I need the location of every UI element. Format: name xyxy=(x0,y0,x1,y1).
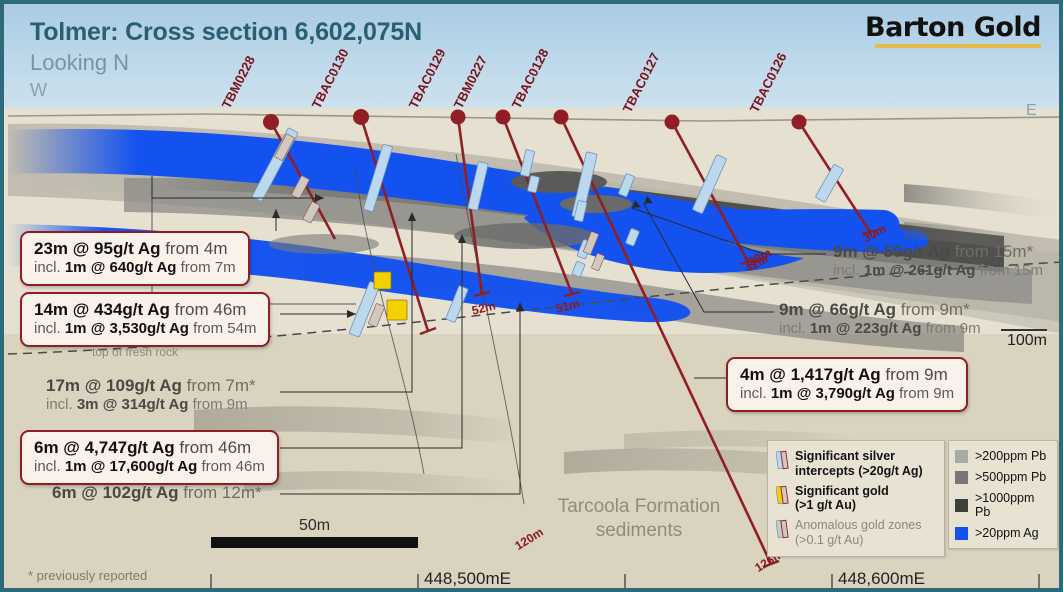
view-direction-label: Looking N xyxy=(30,50,129,76)
callout-incl-prefix: incl. xyxy=(46,396,77,413)
silver-intercept-icon xyxy=(776,450,789,470)
legend-item-silver-intercept-icon: Significant silverintercepts (>20g/t Ag) xyxy=(776,449,936,479)
callout-interval-bold: 6m @ 102g/t Ag xyxy=(52,483,178,502)
legend-symbols: Significant silverintercepts (>20g/t Ag)… xyxy=(767,440,945,557)
callout-incl-prefix: incl. xyxy=(34,458,65,475)
intercept-callout-c3: 17m @ 109g/t Ag from 7m*incl. 3m @ 314g/… xyxy=(46,376,256,414)
color-swatch xyxy=(955,471,968,484)
deep-lens-3 xyxy=(244,471,514,500)
intercept-callout-c5: 6m @ 102g/t Ag from 12m* xyxy=(52,483,262,503)
legend-geochem-item: >500ppm Pb xyxy=(955,470,1051,484)
callout-line-primary: 9m @ 66g/t Ag from 9m* xyxy=(779,300,981,320)
callout-line-incl: incl. 1m @ 3,790g/t Ag from 9m xyxy=(740,385,954,403)
tarcoola-formation-label: Tarcoola Formation sediments xyxy=(539,495,739,543)
callout-from-depth: from 46m xyxy=(175,438,252,457)
callout-interval-bold: 4m @ 1,417g/t Ag xyxy=(740,365,881,384)
footnote: * previously reported xyxy=(28,568,147,583)
callout-interval-bold: 6m @ 4,747g/t Ag xyxy=(34,438,175,457)
callout-incl-from: from 9m xyxy=(921,320,980,337)
legend-geochem-item: >1000ppm Pb xyxy=(955,491,1051,519)
callout-line-primary: 9m @ 59g/t Ag from 15m* xyxy=(833,242,1043,262)
callout-from-depth: from 7m* xyxy=(182,376,256,395)
anomalous-gold-icon xyxy=(776,519,789,539)
topography-surface-line xyxy=(8,114,1063,121)
callout-line-primary: 23m @ 95g/t Ag from 4m xyxy=(34,239,236,259)
callout-line-incl: incl. 1m @ 17,600g/t Ag from 46m xyxy=(34,458,265,476)
legend-item-label: Significant silverintercepts (>20g/t Ag) xyxy=(795,449,923,479)
callout-incl-bold: 1m @ 261g/t Ag xyxy=(864,262,976,279)
depth-rule-100m xyxy=(1001,329,1047,331)
callout-interval-bold: 14m @ 434g/t Ag xyxy=(34,300,170,319)
color-swatch xyxy=(955,450,968,463)
callout-incl-bold: 1m @ 223g/t Ag xyxy=(810,320,922,337)
inner-dark-lens-b xyxy=(560,195,632,213)
legend-label-line1: Significant gold xyxy=(795,484,889,499)
callout-line-incl: incl. 1m @ 261g/t Ag from 15m xyxy=(833,262,1043,280)
legend-item-anomalous-gold-icon: Anomalous gold zones(>0.1 g/t Au) xyxy=(776,518,936,548)
scale-bar xyxy=(211,537,418,548)
inner-dark-lens-d xyxy=(269,234,379,254)
callout-from-depth: from 9m* xyxy=(896,300,970,319)
callout-line-incl: incl. 1m @ 3,530g/t Ag from 54m xyxy=(34,320,256,338)
depth-label-100m: 100m xyxy=(1001,329,1047,350)
easting-label-right: 448,600mE xyxy=(838,569,925,589)
callout-from-depth: from 15m* xyxy=(950,242,1033,261)
callout-incl-prefix: incl. xyxy=(34,320,65,337)
callout-from-depth: from 4m xyxy=(160,239,227,258)
callout-interval-bold: 9m @ 59g/t Ag xyxy=(833,242,950,261)
legend-label-line2: intercepts (>20g/t Ag) xyxy=(795,464,923,479)
west-label: W xyxy=(30,80,47,101)
intercept-callout-c2: 14m @ 434g/t Ag from 46mincl. 1m @ 3,530… xyxy=(20,292,270,347)
legend-geochem-label: >20ppm Ag xyxy=(975,526,1039,540)
callout-line-incl: incl. 1m @ 223g/t Ag from 9m xyxy=(779,320,981,338)
callout-line-primary: 17m @ 109g/t Ag from 7m* xyxy=(46,376,256,396)
page-title: Tolmer: Cross section 6,602,075N xyxy=(30,18,422,47)
depth-100-text: 100m xyxy=(1007,332,1047,349)
easting-label-left: 448,500mE xyxy=(424,569,511,589)
brand-logo: Barton Gold xyxy=(865,14,1041,48)
callout-incl-bold: 3m @ 314g/t Ag xyxy=(77,396,189,413)
legend-label-line2: (>0.1 g/t Au) xyxy=(795,533,921,548)
legend-geochem-item: >200ppm Pb xyxy=(955,449,1051,463)
callout-incl-from: from 46m xyxy=(197,458,265,475)
legend-item-gold-intercept-icon: Significant gold(>1 g/t Au) xyxy=(776,484,936,514)
color-swatch xyxy=(955,499,968,512)
callout-incl-from: from 15m xyxy=(975,262,1043,279)
intercept-callout-c4: 6m @ 4,747g/t Ag from 46mincl. 1m @ 17,6… xyxy=(20,430,279,485)
callout-line-primary: 14m @ 434g/t Ag from 46m xyxy=(34,300,256,320)
cross-section-figure: Tolmer: Cross section 6,602,075N Looking… xyxy=(0,0,1063,592)
callout-incl-prefix: incl. xyxy=(740,385,771,402)
callout-incl-from: from 9m xyxy=(895,385,954,402)
callout-interval-bold: 23m @ 95g/t Ag xyxy=(34,239,160,258)
legend-geochemistry: >200ppm Pb>500ppm Pb>1000ppm Pb>20ppm Ag xyxy=(948,440,1058,549)
callout-line-primary: 4m @ 1,417g/t Ag from 9m xyxy=(740,365,954,385)
callout-incl-from: from 54m xyxy=(189,320,257,337)
brand-name: Barton Gold xyxy=(865,14,1041,41)
legend-geochem-label: >200ppm Pb xyxy=(975,449,1046,463)
color-swatch xyxy=(955,527,968,540)
callout-from-depth: from 12m* xyxy=(178,483,261,502)
legend-geochem-label: >1000ppm Pb xyxy=(975,491,1051,519)
east-label: E xyxy=(1026,102,1037,120)
callout-line-primary: 6m @ 102g/t Ag from 12m* xyxy=(52,483,262,503)
callout-incl-prefix: incl. xyxy=(779,320,810,337)
legend-item-label: Anomalous gold zones(>0.1 g/t Au) xyxy=(795,518,921,548)
callout-incl-prefix: incl. xyxy=(34,259,65,276)
callout-interval-bold: 17m @ 109g/t Ag xyxy=(46,376,182,395)
legend-label-line1: Anomalous gold zones xyxy=(795,518,921,533)
legend-item-label: Significant gold(>1 g/t Au) xyxy=(795,484,889,514)
callout-line-primary: 6m @ 4,747g/t Ag from 46m xyxy=(34,438,265,458)
callout-interval-bold: 9m @ 66g/t Ag xyxy=(779,300,896,319)
intercept-callout-c1: 23m @ 95g/t Ag from 4mincl. 1m @ 640g/t … xyxy=(20,231,250,286)
drillhole-collars xyxy=(263,109,807,130)
legend-geochem-label: >500ppm Pb xyxy=(975,470,1046,484)
callout-from-depth: from 46m xyxy=(170,300,247,319)
fresh-rock-label: top of fresh rock xyxy=(92,345,178,359)
intercept-callout-c6: 9m @ 59g/t Ag from 15m*incl. 1m @ 261g/t… xyxy=(833,242,1043,280)
legend-label-line1: Significant silver xyxy=(795,449,923,464)
callout-incl-bold: 1m @ 3,790g/t Ag xyxy=(771,385,895,402)
gold-intercept-icon xyxy=(776,485,789,505)
callout-incl-bold: 1m @ 640g/t Ag xyxy=(65,259,177,276)
title-bold: Tolmer: xyxy=(30,18,118,46)
formation-line-2: sediments xyxy=(596,520,683,541)
legend-label-line2: (>1 g/t Au) xyxy=(795,498,889,513)
legend-geochem-item: >20ppm Ag xyxy=(955,526,1051,540)
callout-incl-bold: 1m @ 17,600g/t Ag xyxy=(65,458,197,475)
intercept-callout-c8: 4m @ 1,417g/t Ag from 9mincl. 1m @ 3,790… xyxy=(726,357,968,412)
title-rest: Cross section 6,602,075N xyxy=(118,18,422,46)
callout-incl-from: from 9m xyxy=(188,396,247,413)
callout-incl-bold: 1m @ 3,530g/t Ag xyxy=(65,320,189,337)
east-grey-streak-1 xyxy=(904,184,1063,220)
brand-underline xyxy=(875,44,1041,48)
formation-line-1: Tarcoola Formation xyxy=(558,496,721,517)
scale-bar-group: 50m xyxy=(211,537,418,548)
callout-line-incl: incl. 3m @ 314g/t Ag from 9m xyxy=(46,396,256,414)
callout-incl-prefix: incl. xyxy=(833,262,864,279)
callout-incl-from: from 7m xyxy=(176,259,235,276)
intercept-callout-c7: 9m @ 66g/t Ag from 9m*incl. 1m @ 223g/t … xyxy=(779,300,981,338)
callout-line-incl: incl. 1m @ 640g/t Ag from 7m xyxy=(34,259,236,277)
scale-bar-label: 50m xyxy=(211,517,418,535)
callout-from-depth: from 9m xyxy=(881,365,948,384)
